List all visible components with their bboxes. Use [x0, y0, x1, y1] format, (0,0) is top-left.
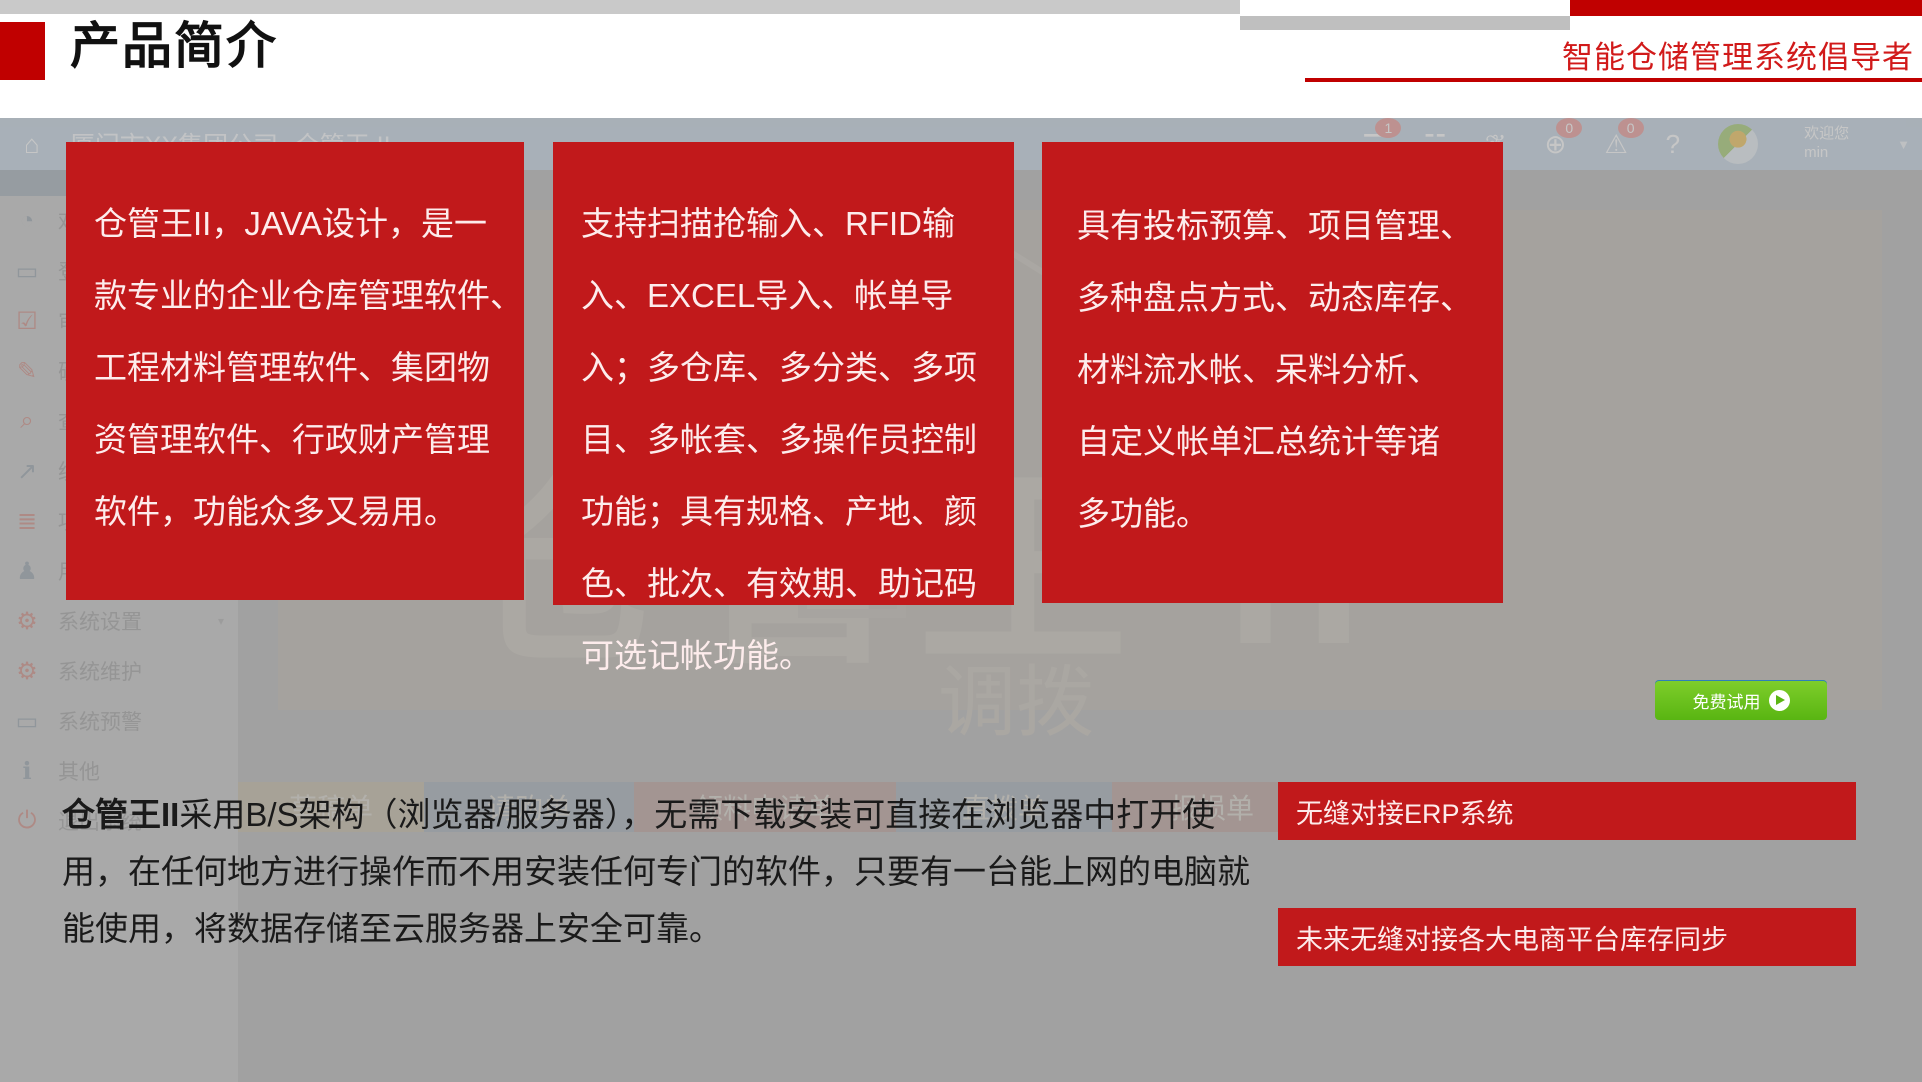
callout-line: 具有投标预算、项目管理、 [1077, 190, 1503, 262]
callout-line: 仓管王II，JAVA设计，是一 [94, 188, 524, 260]
strip-erp-label: 无缝对接ERP系统 [1296, 792, 1514, 831]
notification-badge: 1 [1375, 118, 1401, 138]
strip-erp: 无缝对接ERP系统 [1278, 782, 1856, 840]
sidebar-item-label: 其他 [58, 756, 100, 786]
callout-line: 功能；具有规格、产地、颜 [581, 476, 1014, 548]
notification-badge: 0 [1556, 118, 1582, 138]
users-icon: ♟ [12, 557, 42, 586]
dashboard-icon: ◔ [12, 207, 42, 235]
sidebar-item-9[interactable]: ⚙系统维护 [0, 646, 238, 696]
callout-line: 多种盘点方式、动态库存、 [1077, 262, 1503, 334]
callout-input-features: 支持扫描抢输入、RFID输入、EXCEL导入、帐单导入；多仓库、多分类、多项目、… [553, 142, 1014, 605]
callout-line: 入；多仓库、多分类、多项 [581, 332, 1014, 404]
callout-line: 款专业的企业仓库管理软件、 [94, 260, 524, 332]
callout-line: 多功能。 [1077, 478, 1503, 550]
header-slogan: 智能仓储管理系统倡导者 [1562, 32, 1914, 77]
callout-line: 目、多帐套、多操作员控制 [581, 404, 1014, 476]
play-icon [1769, 690, 1790, 711]
avatar[interactable] [1718, 124, 1758, 164]
callout-line: 材料流水帐、呆料分析、 [1077, 334, 1503, 406]
architecture-paragraph: 仓管王II采用B/S架构（浏览器/服务器），无需下载安装可直接在浏览器中打开使用… [62, 786, 1252, 957]
callout-management-features: 具有投标预算、项目管理、多种盘点方式、动态库存、材料流水帐、呆料分析、自定义帐单… [1042, 142, 1503, 603]
strip-ecommerce-label: 未来无缝对接各大电商平台库存同步 [1296, 918, 1728, 957]
home-icon[interactable]: ⌂ [24, 129, 40, 160]
callout-line: 自定义帐单汇总统计等诸 [1077, 406, 1503, 478]
header-gray-bar-right [1240, 16, 1570, 30]
header-slogan-underline [1305, 78, 1922, 82]
paragraph-bold-lead: 仓管王II [62, 796, 179, 833]
check-box-icon: ☑ [12, 307, 42, 336]
info-icon: ℹ [12, 757, 42, 786]
sidebar-item-label: 系统设置 [58, 606, 142, 636]
free-trial-button[interactable]: 免费试用 [1655, 680, 1827, 720]
help-icon[interactable]: ? [1666, 131, 1680, 157]
gear-icon: ⚙ [12, 657, 42, 686]
page-title: 产品简介 [70, 16, 278, 76]
sidebar-item-label: 系统预警 [58, 706, 142, 736]
header-red-bar [1570, 0, 1922, 16]
edit-icon: ✎ [12, 357, 42, 386]
monitor-icon: ▭ [12, 257, 42, 286]
sidebar-item-8[interactable]: ⚙系统设置▾ [0, 596, 238, 646]
alert-icon[interactable]: ⚠0 [1604, 131, 1627, 157]
chevron-down-icon: ▾ [218, 614, 224, 628]
header-red-square [0, 22, 45, 80]
callout-line: 色、批次、有效期、助记码 [581, 548, 1014, 620]
monitor-icon: ▭ [12, 707, 42, 736]
welcome-text: 欢迎您min [1804, 125, 1849, 163]
callout-line: 资管理软件、行政财产管理 [94, 404, 524, 476]
welcome-label: 欢迎您 [1804, 125, 1849, 142]
list-icon: ≣ [12, 507, 42, 536]
power-icon: ⏻ [12, 807, 42, 835]
paragraph-body: 采用B/S架构（浏览器/服务器），无需下载安装可直接在浏览器中打开使用，在任何地… [62, 796, 1250, 947]
gear-icon: ⚙ [12, 607, 42, 636]
notification-badge: 0 [1618, 118, 1644, 138]
callout-line: 工程材料管理软件、集团物 [94, 332, 524, 404]
chevron-down-icon[interactable]: ▼ [1897, 137, 1910, 152]
callout-product-overview: 仓管王II，JAVA设计，是一款专业的企业仓库管理软件、工程材料管理软件、集团物… [66, 142, 524, 600]
callout-line: 可选记帐功能。 [581, 620, 1014, 692]
callout-line: 支持扫描抢输入、RFID输 [581, 188, 1014, 260]
free-trial-label: 免费试用 [1693, 688, 1761, 713]
slide-canvas: 产品简介 智能仓储管理系统倡导者 ⌂ 厦门市XX集团公司--仓管王 II ☰1☷… [0, 0, 1922, 1082]
sidebar-item-label: 系统维护 [58, 656, 142, 686]
strip-ecommerce: 未来无缝对接各大电商平台库存同步 [1278, 908, 1856, 966]
callout-line: 入、EXCEL导入、帐单导 [581, 260, 1014, 332]
account-name: min [1804, 144, 1828, 161]
header-gray-bar-left [0, 0, 1240, 14]
search-icon: ⌕ [12, 407, 42, 435]
sidebar-item-10[interactable]: ▭系统预警 [0, 696, 238, 746]
chart-line-icon: ↗ [12, 457, 42, 486]
add-circle-icon[interactable]: ⊕0 [1545, 131, 1567, 157]
callout-line: 软件，功能众多又易用。 [94, 476, 524, 548]
